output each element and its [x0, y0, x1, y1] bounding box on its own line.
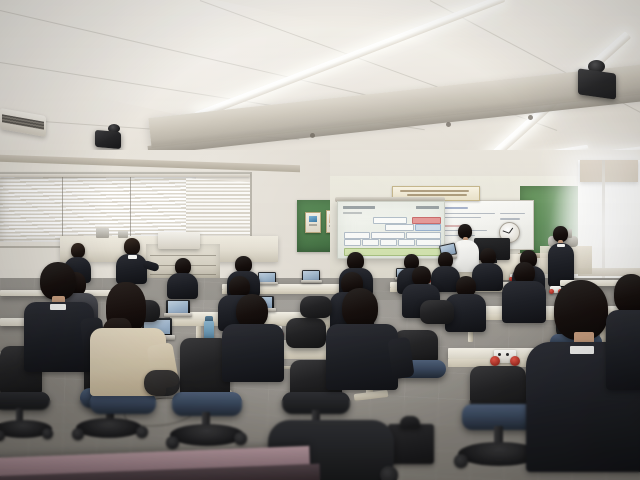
beam-bolt: [310, 133, 315, 138]
student-laptop-base: [301, 280, 322, 283]
student-head: [342, 288, 378, 328]
lab-equipment-post: [568, 229, 572, 238]
floor-bag-handle: [400, 416, 420, 428]
beam-bolt: [528, 115, 533, 120]
student-head: [412, 266, 431, 286]
chair-base: [76, 418, 142, 438]
chair-caster: [234, 432, 247, 445]
attendee-torso: [606, 310, 640, 390]
window-roller-blind[interactable]: [580, 160, 638, 182]
counter-equipment: [118, 231, 128, 238]
chair-caster: [42, 428, 53, 439]
robot-wheel: [490, 356, 500, 366]
classroom-photo: [0, 0, 640, 480]
robot-wheel: [510, 356, 520, 366]
chair-caster: [72, 428, 84, 440]
chair-caster: [454, 454, 468, 468]
office-chair-back[interactable]: [286, 318, 326, 348]
wall-speaker-left: [95, 130, 121, 149]
robot-wheel: [549, 289, 554, 294]
chair-base: [170, 424, 244, 446]
attendee-head: [554, 280, 608, 340]
counter-equipment: [96, 228, 109, 238]
wall-speaker-right: [578, 68, 616, 99]
student-torso: [222, 324, 284, 382]
student-laptop-screen: [166, 300, 190, 314]
beam-bolt: [446, 122, 451, 127]
standing-attendee-collar: [557, 244, 565, 247]
presenter-collar: [461, 241, 471, 245]
chair-caster: [166, 436, 179, 449]
observer-collar: [128, 255, 137, 259]
attendee-head: [614, 274, 640, 314]
student-torso: [472, 263, 503, 291]
office-chair-seat[interactable]: [0, 392, 50, 410]
student-laptop-base: [257, 282, 278, 285]
floor-bag: [388, 424, 434, 464]
thermos-cap: [205, 316, 213, 321]
poster-left: [305, 212, 321, 233]
projection-screen: [337, 201, 445, 259]
robot-sensor: [498, 353, 501, 356]
printer-unit: [158, 232, 200, 249]
student-torso: [502, 281, 546, 323]
observer-head: [124, 238, 140, 255]
observer-head: [71, 243, 85, 258]
attendee-collar: [570, 346, 594, 354]
floor-bag: [144, 370, 180, 396]
office-chair-back[interactable]: [420, 300, 454, 324]
student-laptop-base: [164, 313, 192, 317]
student-head: [40, 262, 76, 300]
student-torso: [167, 273, 198, 299]
chair-caster: [136, 426, 148, 438]
robot-sensor: [506, 353, 509, 356]
chair-caster: [380, 466, 398, 480]
student-torso: [326, 324, 398, 390]
student-collar: [50, 304, 66, 310]
office-chair-back[interactable]: [300, 296, 332, 318]
student-head: [236, 294, 268, 328]
